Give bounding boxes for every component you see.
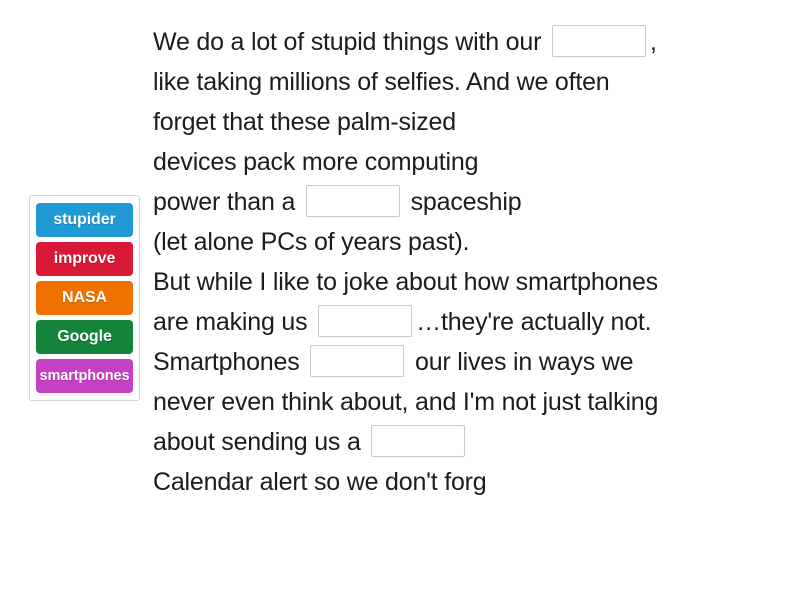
drop-blank-3[interactable] xyxy=(318,305,412,337)
cloze-text-before: forget that these palm-sized xyxy=(153,108,456,136)
cloze-line-11: about sending us a xyxy=(153,422,778,462)
cloze-text-before: like taking millions of selfies. And we … xyxy=(153,68,610,96)
word-tile-label: improve xyxy=(54,250,116,268)
cloze-text-before: about sending us a xyxy=(153,428,367,456)
cloze-text-before: We do a lot of stupid things with our xyxy=(153,28,548,56)
word-tile-4[interactable]: smartphones xyxy=(36,359,133,393)
cloze-line-3: forget that these palm-sized xyxy=(153,102,778,142)
word-tile-label: smartphones xyxy=(40,368,130,384)
cloze-passage: We do a lot of stupid things with our , … xyxy=(153,22,778,502)
word-tile-2[interactable]: NASA xyxy=(36,281,133,315)
word-tile-3[interactable]: Google xyxy=(36,320,133,354)
word-tile-label: Google xyxy=(57,328,112,346)
cloze-text-before: But while I like to joke about how smart… xyxy=(153,268,658,296)
cloze-line-1: We do a lot of stupid things with our , xyxy=(153,22,778,62)
drop-blank-1[interactable] xyxy=(552,25,646,57)
cloze-text-before: (let alone PCs of years past). xyxy=(153,228,469,256)
cloze-text-after: …they're actually not. xyxy=(416,308,651,336)
word-tile-1[interactable]: improve xyxy=(36,242,133,276)
cloze-line-7: But while I like to joke about how smart… xyxy=(153,262,778,302)
cloze-text-before: are making us xyxy=(153,308,314,336)
drop-blank-2[interactable] xyxy=(306,185,400,217)
cloze-line-5: power than a spaceship xyxy=(153,182,778,222)
cloze-text-after: , xyxy=(650,28,657,56)
cloze-text-before: power than a xyxy=(153,188,302,216)
drop-blank-4[interactable] xyxy=(310,345,404,377)
cloze-line-12: Calendar alert so we don't forg xyxy=(153,462,778,502)
cloze-line-8: are making us …they're actually not. xyxy=(153,302,778,342)
word-bank[interactable]: stupider improve NASA Google smartphones xyxy=(29,195,140,401)
cloze-text-before: never even think about, and I'm not just… xyxy=(153,388,658,416)
word-tile-label: NASA xyxy=(62,289,107,307)
cloze-text-before: devices pack more computing xyxy=(153,148,478,176)
word-tile-label: stupider xyxy=(53,211,115,229)
drop-blank-5[interactable] xyxy=(371,425,465,457)
cloze-line-2: like taking millions of selfies. And we … xyxy=(153,62,778,102)
cloze-line-6: (let alone PCs of years past). xyxy=(153,222,778,262)
cloze-text-after: spaceship xyxy=(404,188,522,216)
cloze-line-4: devices pack more computing xyxy=(153,142,778,182)
cloze-text-after: our lives in ways we xyxy=(408,348,633,376)
cloze-line-9: Smartphones our lives in ways we xyxy=(153,342,778,382)
word-tile-0[interactable]: stupider xyxy=(36,203,133,237)
cloze-line-10: never even think about, and I'm not just… xyxy=(153,382,778,422)
cloze-text-before: Calendar alert so we don't forg xyxy=(153,468,487,496)
cloze-text-before: Smartphones xyxy=(153,348,306,376)
